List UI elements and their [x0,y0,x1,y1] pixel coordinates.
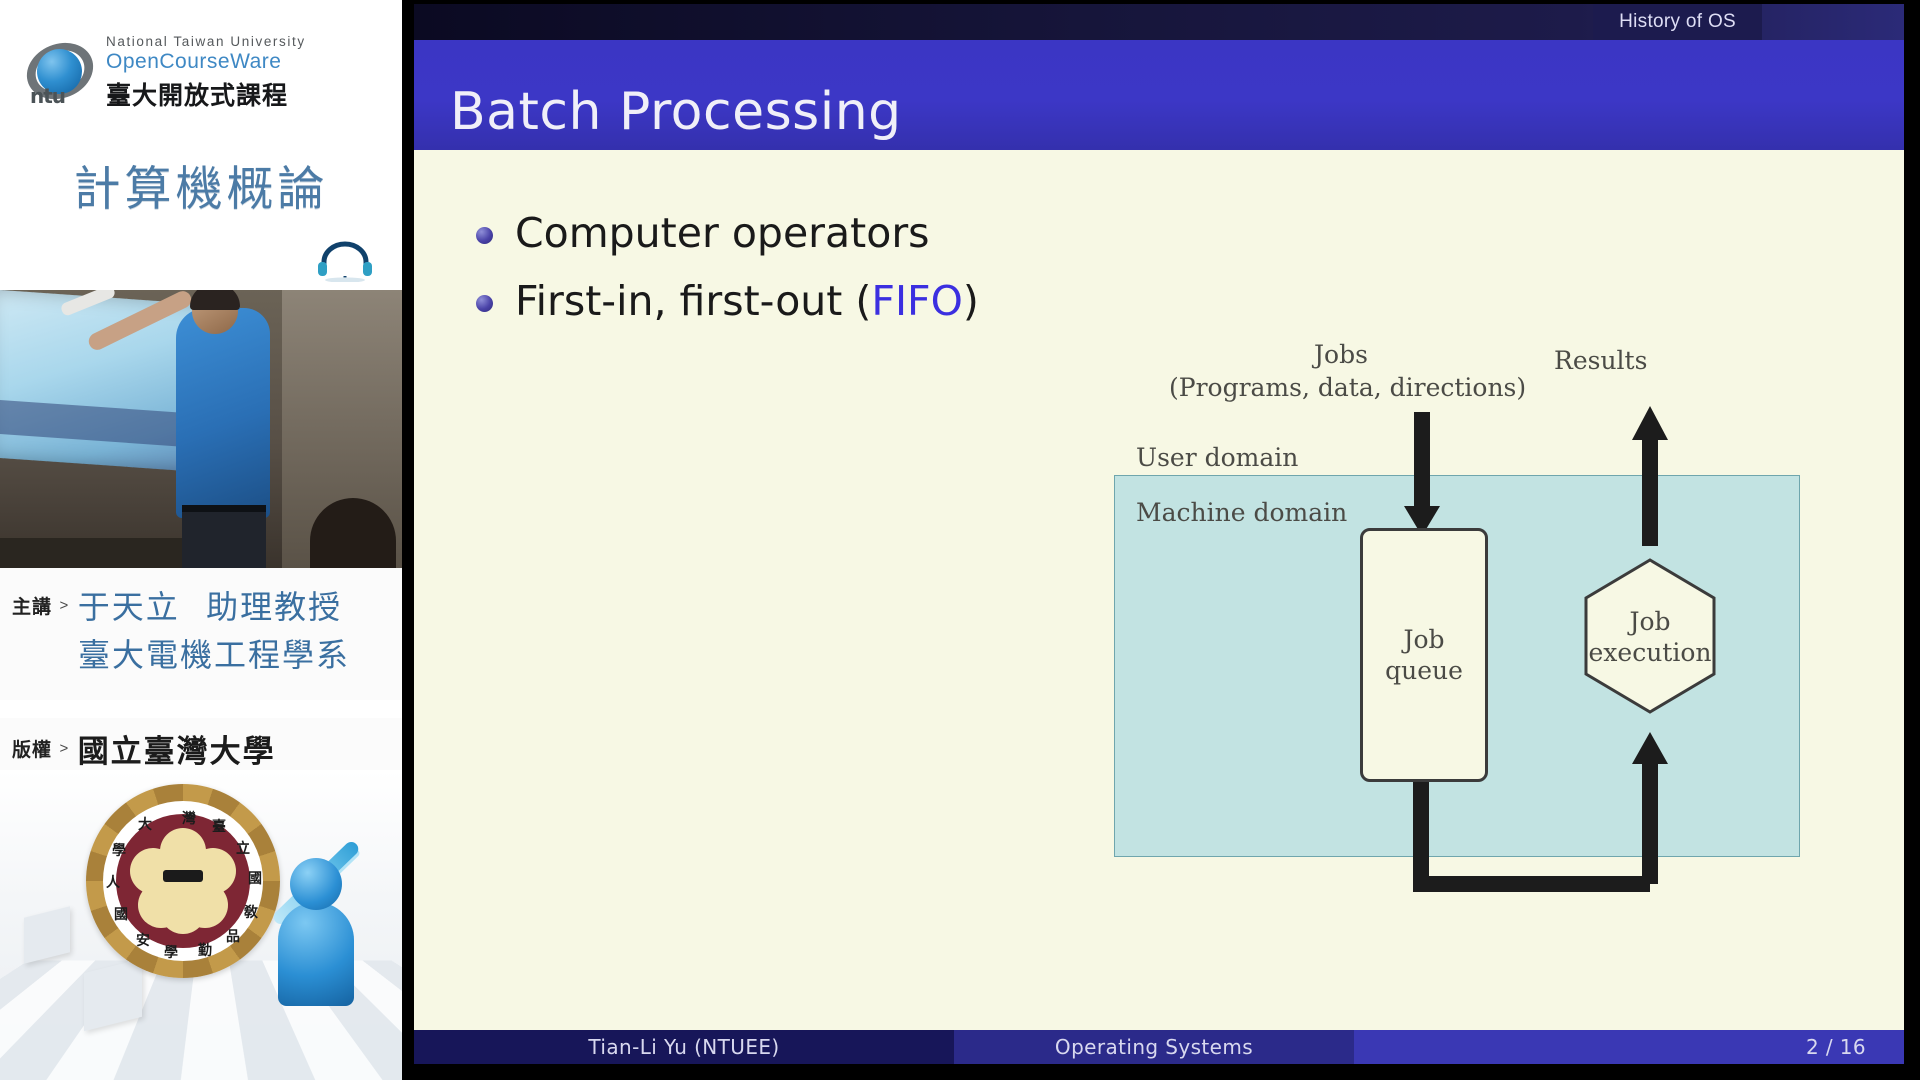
batch-processing-diagram: Jobs (Programs, data, directions) Result… [1114,340,1814,960]
job-queue-node: Job queue [1360,528,1488,782]
emblem-area: 灣 臺 立 國 敎 品 勤 學 安 國 人 學 大 [0,770,402,1080]
slide-canvas: Computer operators First-in, first-out (… [414,150,1904,1030]
bullet-text: Computer operators [515,208,930,258]
arrow-results-out [1632,406,1668,546]
copyright-separator: > [59,740,68,757]
job-queue-line1: Job [1385,624,1463,655]
ntu-globe-logo-icon: ntu [24,40,98,106]
instructor-label: 主講 [12,592,52,619]
screen-root: ntu National Taiwan University OpenCours… [0,0,1920,1080]
ntu-emblem-icon: 灣 臺 立 國 敎 品 勤 學 安 國 人 學 大 [86,784,280,978]
bullet-list: Computer operators First-in, first-out (… [476,208,979,344]
bullet-highlight-fifo: FIFO [871,277,963,325]
footer-page-number: 2 / 16 [1354,1030,1904,1064]
instructor-separator: > [59,597,68,614]
footer-author: Tian-Li Yu (NTUEE) [414,1030,954,1064]
slide-section-bar: History of OS [414,4,1904,40]
headset-icon [314,238,376,282]
section-tab-history-of-os[interactable]: History of OS [1593,4,1762,40]
bullet-text-after: ) [963,277,979,325]
decorative-cube [24,906,70,963]
copyright-organization: 國立臺灣大學 [78,726,276,771]
ocw-line2: OpenCourseWare [106,50,306,74]
copyright-block: 版權 > 國立臺灣大學 [0,718,402,778]
job-execution-line2: execution [1589,637,1712,668]
instructor-name: 于天立 [78,582,180,628]
ocw-logo: ntu National Taiwan University OpenCours… [24,34,306,112]
copyright-label: 版權 [12,735,52,762]
arrow-jobs-in [1404,412,1440,536]
footer-subject: Operating Systems [954,1030,1354,1064]
ocw-header: ntu National Taiwan University OpenCours… [0,0,402,290]
instructor-title: 助理教授 [206,582,342,628]
job-execution-line1: Job [1589,606,1712,637]
course-sidebar: ntu National Taiwan University OpenCours… [0,0,402,1080]
bullet-dot-icon [476,227,493,244]
list-item: First-in, first-out (FIFO) [476,276,979,326]
ntu-mascot-figure-icon [270,858,362,1008]
instructor-block: 主講 > 于天立 助理教授 臺大電機工程學系 [0,568,402,700]
instructor-affiliation: 臺大電機工程學系 [78,630,350,676]
projector-text [110,424,114,434]
job-execution-label: Job execution [1586,598,1714,676]
job-queue-line2: queue [1385,655,1463,686]
ocw-line1: National Taiwan University [106,34,306,49]
course-title: 計算機概論 [0,150,402,219]
slide-footer: Tian-Li Yu (NTUEE) Operating Systems 2 /… [414,1030,1904,1064]
ocw-line3: 臺大開放式課程 [106,76,306,112]
list-item: Computer operators [476,208,979,258]
bullet-text-before: First-in, first-out ( [515,277,871,325]
slide-title-bar: Batch Processing [414,40,1904,150]
bullet-dot-icon [476,295,493,312]
emblem-ring-text: 灣 臺 立 國 敎 品 勤 學 安 國 人 學 大 [86,784,280,978]
slide-title: Batch Processing [450,82,902,142]
lecturer-photo [0,290,402,568]
ntu-wordmark: ntu [30,84,65,108]
bullet-text: First-in, first-out (FIFO) [515,276,979,326]
ocw-wordmark: National Taiwan University OpenCourseWar… [106,34,306,112]
slide-viewer: History of OS Batch Processing Computer … [414,4,1904,1068]
